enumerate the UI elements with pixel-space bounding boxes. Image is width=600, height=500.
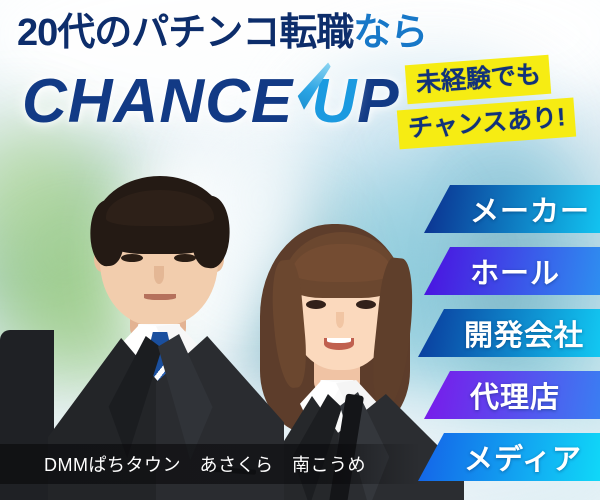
category-bar-agency[interactable]: 代理店 [424,371,600,419]
category-bar-maker[interactable]: メーカー [424,185,600,233]
category-label: メディア [464,436,582,478]
category-label: 開発会社 [464,312,584,354]
category-bar-developer[interactable]: 開発会社 [418,309,600,357]
category-label: 代理店 [470,374,560,416]
caption-text: DMMぱちタウン あさくら 南こうめ [0,451,366,477]
category-bar-media[interactable]: メディア [418,433,600,481]
category-label: メーカー [470,188,590,230]
category-label: ホール [470,250,560,292]
category-bar-hall[interactable]: ホール [424,247,600,295]
caption-band: DMMぱちタウン あさくら 南こうめ [0,444,420,484]
advertisement-banner[interactable]: 20代のパチンコ転職なら CHANCE UP 未経験でも チャンスあり! メーカ… [0,0,600,500]
category-bar-list: メーカー ホール 開発会社 代理店 メディア [0,0,600,500]
